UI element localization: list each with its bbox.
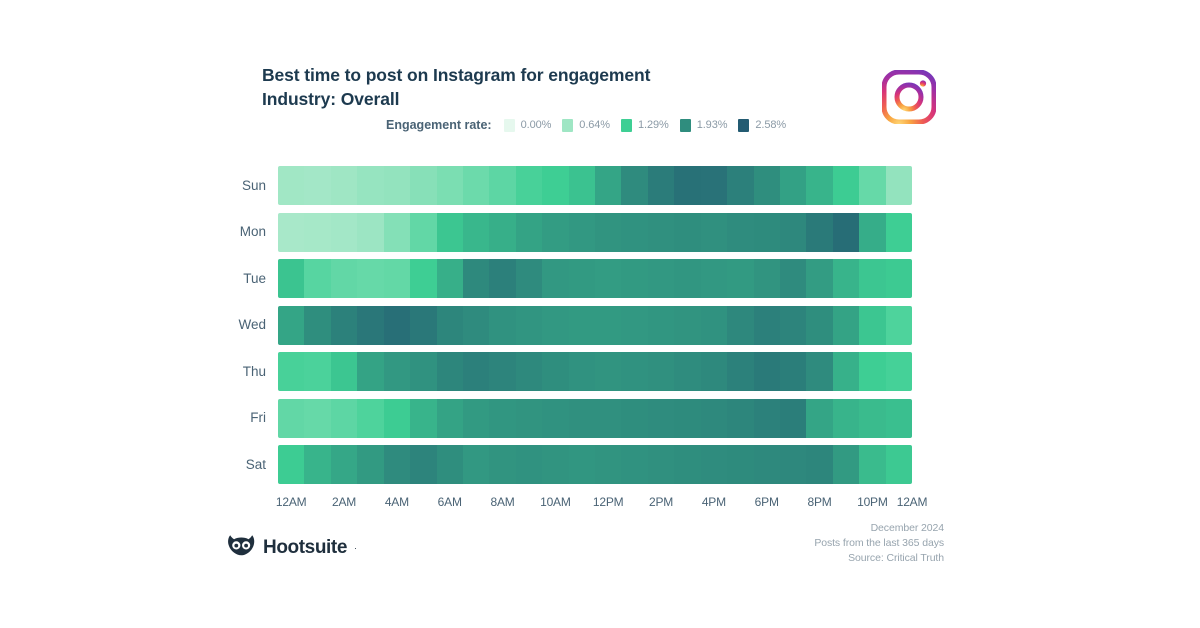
- heatmap-cell[interactable]: [437, 306, 463, 345]
- heatmap-cell[interactable]: [621, 399, 647, 438]
- heatmap-cell[interactable]: [357, 259, 383, 298]
- heatmap-cell[interactable]: [357, 399, 383, 438]
- heatmap-cell[interactable]: [384, 352, 410, 391]
- heatmap-cell[interactable]: [833, 445, 859, 484]
- heatmap-cell[interactable]: [701, 445, 727, 484]
- heatmap-cell[interactable]: [833, 213, 859, 252]
- heatmap-cell[interactable]: [516, 166, 542, 205]
- heatmap-cell[interactable]: [595, 166, 621, 205]
- heatmap-cell[interactable]: [859, 352, 885, 391]
- heatmap-cell[interactable]: [463, 306, 489, 345]
- heatmap-cell[interactable]: [648, 213, 674, 252]
- x-axis-label: 10AM: [540, 495, 571, 509]
- chart-header: Best time to post on Instagram for engag…: [262, 64, 962, 111]
- heatmap-cell[interactable]: [727, 259, 753, 298]
- heatmap-cell[interactable]: [621, 213, 647, 252]
- heatmap-cell[interactable]: [489, 445, 515, 484]
- heatmap-cell[interactable]: [569, 166, 595, 205]
- heatmap-cell[interactable]: [278, 352, 304, 391]
- heatmap-cell[interactable]: [437, 352, 463, 391]
- heatmap-cell[interactable]: [886, 445, 912, 484]
- heatmap-cell[interactable]: [410, 445, 436, 484]
- legend-label: 1.93%: [697, 119, 728, 131]
- heatmap-cell[interactable]: [859, 166, 885, 205]
- footnote-scope: Posts from the last 365 days: [814, 536, 944, 551]
- heatmap-cell[interactable]: [357, 213, 383, 252]
- heatmap-cell[interactable]: [621, 259, 647, 298]
- heatmap-cell[interactable]: [833, 259, 859, 298]
- x-axis: 12AM2AM4AM6AM8AM10AM12PM2PM4PM6PM8PM10PM…: [278, 495, 912, 515]
- heatmap-cell[interactable]: [806, 306, 832, 345]
- heatmap-cell[interactable]: [516, 213, 542, 252]
- legend-swatch-icon: [504, 119, 515, 132]
- heatmap-cell[interactable]: [859, 399, 885, 438]
- heatmap-cell[interactable]: [886, 259, 912, 298]
- brand-name: Hootsuite: [263, 537, 347, 559]
- heatmap-cell[interactable]: [780, 445, 806, 484]
- heatmap-cell[interactable]: [886, 306, 912, 345]
- heatmap-cell[interactable]: [489, 166, 515, 205]
- heatmap-cell[interactable]: [357, 306, 383, 345]
- x-axis-label: 6PM: [755, 495, 779, 509]
- heatmap-cell[interactable]: [331, 306, 357, 345]
- heatmap-cell[interactable]: [384, 445, 410, 484]
- heatmap-cell[interactable]: [595, 399, 621, 438]
- heatmap-cell[interactable]: [278, 399, 304, 438]
- heatmap-cell[interactable]: [701, 306, 727, 345]
- legend-swatch-icon: [738, 119, 749, 132]
- heatmap-cell[interactable]: [569, 213, 595, 252]
- heatmap-row: [278, 306, 912, 345]
- x-axis-label: 2AM: [332, 495, 356, 509]
- heatmap-cell[interactable]: [331, 213, 357, 252]
- heatmap-cell[interactable]: [727, 445, 753, 484]
- heatmap-cell[interactable]: [701, 352, 727, 391]
- legend-swatch-icon: [680, 119, 691, 132]
- legend-item: 1.29%: [621, 119, 669, 132]
- heatmap-cell[interactable]: [410, 213, 436, 252]
- heatmap-cell[interactable]: [806, 213, 832, 252]
- heatmap-cell[interactable]: [806, 259, 832, 298]
- heatmap-cell[interactable]: [384, 213, 410, 252]
- heatmap-cell[interactable]: [727, 399, 753, 438]
- heatmap-cell[interactable]: [542, 213, 568, 252]
- y-axis-label-mon: Mon: [186, 225, 266, 239]
- heatmap-cell[interactable]: [569, 306, 595, 345]
- owl-icon: [226, 532, 256, 563]
- heatmap-cell[interactable]: [569, 259, 595, 298]
- heatmap-cell[interactable]: [648, 445, 674, 484]
- legend-title: Engagement rate:: [386, 118, 492, 132]
- instagram-icon: [882, 70, 936, 124]
- legend-item: 0.64%: [562, 119, 610, 132]
- heatmap-cell[interactable]: [304, 352, 330, 391]
- heatmap-cell[interactable]: [833, 399, 859, 438]
- y-axis: SunMonTueWedThuFriSat: [186, 166, 266, 486]
- heatmap-cell[interactable]: [542, 399, 568, 438]
- heatmap-cell[interactable]: [806, 166, 832, 205]
- y-axis-label-thu: Thu: [186, 365, 266, 379]
- heatmap-cell[interactable]: [780, 399, 806, 438]
- x-axis-label: 12AM: [897, 495, 928, 509]
- legend-label: 1.29%: [638, 119, 669, 131]
- heatmap-row: [278, 259, 912, 298]
- heatmap-cell[interactable]: [754, 352, 780, 391]
- footnote-source: Source: Critical Truth: [814, 551, 944, 566]
- chart-canvas: Best time to post on Instagram for engag…: [0, 0, 1200, 628]
- heatmap-cell[interactable]: [384, 259, 410, 298]
- heatmap-cell[interactable]: [701, 213, 727, 252]
- heatmap-cell[interactable]: [674, 399, 700, 438]
- heatmap-cell[interactable]: [886, 399, 912, 438]
- heatmap-cell[interactable]: [859, 306, 885, 345]
- x-axis-label: 2PM: [649, 495, 673, 509]
- heatmap-cell[interactable]: [833, 306, 859, 345]
- x-axis-label: 6AM: [438, 495, 462, 509]
- heatmap-row: [278, 166, 912, 205]
- heatmap-cell[interactable]: [516, 259, 542, 298]
- x-axis-label: 4PM: [702, 495, 726, 509]
- heatmap-cell[interactable]: [833, 352, 859, 391]
- x-axis-label: 10PM: [857, 495, 888, 509]
- legend-label: 2.58%: [755, 119, 786, 131]
- legend-label: 0.64%: [579, 119, 610, 131]
- heatmap-cell[interactable]: [648, 352, 674, 391]
- heatmap-cell[interactable]: [674, 166, 700, 205]
- heatmap-cell[interactable]: [463, 445, 489, 484]
- heatmap-cell[interactable]: [727, 213, 753, 252]
- legend-label: 0.00%: [521, 119, 552, 131]
- heatmap-cell[interactable]: [754, 445, 780, 484]
- heatmap-cell[interactable]: [331, 352, 357, 391]
- heatmap-cell[interactable]: [542, 445, 568, 484]
- heatmap-cell[interactable]: [886, 213, 912, 252]
- heatmap-cell[interactable]: [859, 259, 885, 298]
- legend-swatch-icon: [562, 119, 573, 132]
- hootsuite-logo: Hootsuite ·: [226, 532, 357, 563]
- heatmap-cell[interactable]: [674, 259, 700, 298]
- heatmap-cell[interactable]: [780, 306, 806, 345]
- footnote-period: December 2024: [814, 521, 944, 536]
- heatmap-row: [278, 399, 912, 438]
- heatmap-cell[interactable]: [542, 306, 568, 345]
- y-axis-label-sun: Sun: [186, 179, 266, 193]
- heatmap-cell[interactable]: [542, 352, 568, 391]
- heatmap-cell[interactable]: [648, 166, 674, 205]
- y-axis-label-wed: Wed: [186, 318, 266, 332]
- heatmap-cell[interactable]: [595, 213, 621, 252]
- heatmap-cell[interactable]: [886, 166, 912, 205]
- heatmap-cell[interactable]: [357, 445, 383, 484]
- legend-item: 2.58%: [738, 119, 786, 132]
- heatmap-cell[interactable]: [621, 166, 647, 205]
- heatmap-cell[interactable]: [595, 259, 621, 298]
- heatmap-cell[interactable]: [569, 445, 595, 484]
- heatmap-cell[interactable]: [331, 399, 357, 438]
- y-axis-label-sat: Sat: [186, 458, 266, 472]
- heatmap-cell[interactable]: [357, 352, 383, 391]
- heatmap-cell[interactable]: [357, 166, 383, 205]
- heatmap-cell[interactable]: [278, 445, 304, 484]
- heatmap-cell[interactable]: [331, 259, 357, 298]
- heatmap-cell[interactable]: [463, 259, 489, 298]
- heatmap-cell[interactable]: [780, 166, 806, 205]
- heatmap-cell[interactable]: [648, 399, 674, 438]
- heatmap-cell[interactable]: [806, 399, 832, 438]
- heatmap-cell[interactable]: [621, 445, 647, 484]
- heatmap: [278, 166, 912, 486]
- heatmap-cell[interactable]: [886, 352, 912, 391]
- heatmap-cell[interactable]: [437, 445, 463, 484]
- heatmap-cell[interactable]: [384, 306, 410, 345]
- heatmap-cell[interactable]: [754, 399, 780, 438]
- heatmap-cell[interactable]: [569, 399, 595, 438]
- heatmap-cell[interactable]: [674, 213, 700, 252]
- heatmap-cell[interactable]: [384, 166, 410, 205]
- heatmap-cell[interactable]: [463, 352, 489, 391]
- heatmap-cell[interactable]: [489, 213, 515, 252]
- heatmap-cell[interactable]: [727, 306, 753, 345]
- heatmap-cell[interactable]: [410, 399, 436, 438]
- heatmap-cell[interactable]: [727, 166, 753, 205]
- x-axis-label: 4AM: [385, 495, 409, 509]
- footnote: December 2024 Posts from the last 365 da…: [814, 521, 944, 567]
- legend-swatch-icon: [621, 119, 632, 132]
- heatmap-cell[interactable]: [304, 306, 330, 345]
- heatmap-row: [278, 352, 912, 391]
- heatmap-cell[interactable]: [674, 306, 700, 345]
- heatmap-cell[interactable]: [516, 445, 542, 484]
- heatmap-row: [278, 213, 912, 252]
- x-axis-label: 12PM: [593, 495, 624, 509]
- heatmap-cell[interactable]: [780, 213, 806, 252]
- heatmap-cell[interactable]: [754, 259, 780, 298]
- heatmap-cell[interactable]: [384, 399, 410, 438]
- page-title: Best time to post on Instagram for engag…: [262, 64, 962, 88]
- heatmap-cell[interactable]: [463, 166, 489, 205]
- heatmap-cell[interactable]: [304, 166, 330, 205]
- heatmap-cell[interactable]: [780, 259, 806, 298]
- heatmap-cell[interactable]: [516, 306, 542, 345]
- heatmap-cell[interactable]: [648, 259, 674, 298]
- legend-item: 1.93%: [680, 119, 728, 132]
- heatmap-cell[interactable]: [489, 259, 515, 298]
- x-axis-label: 12AM: [276, 495, 307, 509]
- heatmap-cell[interactable]: [701, 166, 727, 205]
- chart-subtitle: Industry: Overall: [262, 88, 962, 112]
- heatmap-cell[interactable]: [595, 352, 621, 391]
- heatmap-cell[interactable]: [410, 259, 436, 298]
- heatmap-cell[interactable]: [489, 399, 515, 438]
- heatmap-cell[interactable]: [516, 352, 542, 391]
- heatmap-cell[interactable]: [437, 166, 463, 205]
- heatmap-cell[interactable]: [542, 259, 568, 298]
- heatmap-cell[interactable]: [463, 399, 489, 438]
- heatmap-cell[interactable]: [674, 445, 700, 484]
- heatmap-cell[interactable]: [806, 352, 832, 391]
- heatmap-cell[interactable]: [674, 352, 700, 391]
- heatmap-cell[interactable]: [437, 399, 463, 438]
- heatmap-cell[interactable]: [701, 259, 727, 298]
- y-axis-label-fri: Fri: [186, 411, 266, 425]
- heatmap-cell[interactable]: [648, 306, 674, 345]
- heatmap-cell[interactable]: [621, 352, 647, 391]
- heatmap-cell[interactable]: [542, 166, 568, 205]
- heatmap-cell[interactable]: [489, 352, 515, 391]
- heatmap-cell[interactable]: [410, 166, 436, 205]
- heatmap-cell[interactable]: [859, 445, 885, 484]
- heatmap-cell[interactable]: [833, 166, 859, 205]
- heatmap-cell[interactable]: [304, 445, 330, 484]
- heatmap-cell[interactable]: [806, 445, 832, 484]
- heatmap-cell[interactable]: [304, 399, 330, 438]
- heatmap-cell[interactable]: [437, 259, 463, 298]
- heatmap-cell[interactable]: [780, 352, 806, 391]
- heatmap-cell[interactable]: [595, 445, 621, 484]
- heatmap-cell[interactable]: [278, 259, 304, 298]
- heatmap-cell[interactable]: [278, 213, 304, 252]
- brand-trademark: ·: [354, 543, 357, 553]
- heatmap-cell[interactable]: [410, 306, 436, 345]
- heatmap-cell[interactable]: [754, 306, 780, 345]
- heatmap-cell[interactable]: [489, 306, 515, 345]
- heatmap-cell[interactable]: [754, 166, 780, 205]
- heatmap-cell[interactable]: [304, 259, 330, 298]
- heatmap-cell[interactable]: [463, 213, 489, 252]
- heatmap-cell[interactable]: [569, 352, 595, 391]
- heatmap-row: [278, 445, 912, 484]
- heatmap-cell[interactable]: [331, 166, 357, 205]
- heatmap-cell[interactable]: [278, 166, 304, 205]
- heatmap-cell[interactable]: [621, 306, 647, 345]
- x-axis-label: 8PM: [807, 495, 831, 509]
- heatmap-cell[interactable]: [859, 213, 885, 252]
- heatmap-cell[interactable]: [516, 399, 542, 438]
- heatmap-cell[interactable]: [727, 352, 753, 391]
- x-axis-label: 8AM: [490, 495, 514, 509]
- heatmap-cell[interactable]: [701, 399, 727, 438]
- y-axis-label-tue: Tue: [186, 272, 266, 286]
- heatmap-cell[interactable]: [595, 306, 621, 345]
- heatmap-cell[interactable]: [304, 213, 330, 252]
- heatmap-cell[interactable]: [331, 445, 357, 484]
- heatmap-cell[interactable]: [437, 213, 463, 252]
- heatmap-cell[interactable]: [410, 352, 436, 391]
- legend: Engagement rate: 0.00% 0.64% 1.29% 1.93%…: [386, 118, 797, 132]
- heatmap-cell[interactable]: [278, 306, 304, 345]
- legend-item: 0.00%: [504, 119, 552, 132]
- heatmap-cell[interactable]: [754, 213, 780, 252]
